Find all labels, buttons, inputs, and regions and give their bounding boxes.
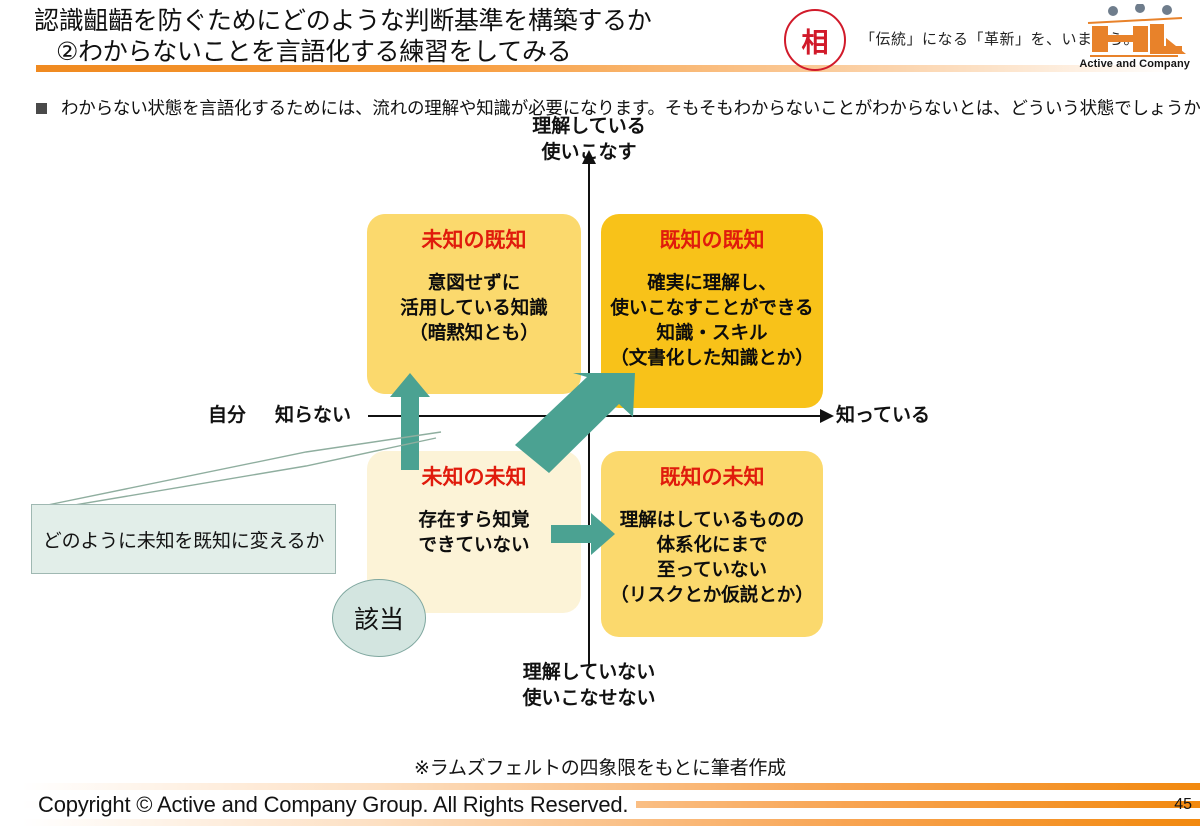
brand-logo-area: 相 「伝統」になる「革新」を、いまから。 Active and Company xyxy=(764,2,1194,78)
footer-bar-top xyxy=(22,783,1200,790)
slide-footer: Copyright © Active and Company Group. Al… xyxy=(0,779,1200,831)
slide-canvas: 認識齟齬を防ぐためにどのような判断基準を構築するか ②わからないことを言語化する… xyxy=(0,0,1200,831)
footer-page-number: 45 xyxy=(1174,796,1192,814)
quadrant-body-line: 体系化にまで xyxy=(601,532,823,557)
active-and-company-logo-icon xyxy=(1078,4,1188,60)
bullet-square-icon xyxy=(36,103,47,114)
page-title: 認識齟齬を防ぐためにどのような判断基準を構築するか ②わからないことを言語化する… xyxy=(34,6,734,68)
callout-box[interactable]: どのように未知を既知に変えるか xyxy=(31,504,336,574)
axis-label-bottom-line-2: 使いこなせない xyxy=(489,686,689,712)
quadrant-body-line: 理解はしているものの xyxy=(601,507,823,532)
arrow-diagonal-up-right-icon xyxy=(515,373,635,473)
callout-text: どのように未知を既知に変えるか xyxy=(43,526,324,553)
axis-arrow-right-icon xyxy=(820,409,834,423)
arrow-right-icon xyxy=(551,513,615,555)
quadrant-body-line: （暗黙知とも） xyxy=(367,320,581,345)
quadrant-body-line: 意図せずに xyxy=(367,270,581,295)
quadrant-known-unknown[interactable]: 既知の未知 理解はしているものの 体系化にまで 至っていない （リスクとか仮説と… xyxy=(601,451,823,637)
axis-label-bottom: 理解していない 使いこなせない xyxy=(489,660,689,712)
quadrant-body-line: （文書化した知識とか） xyxy=(601,345,823,370)
axis-label-top: 理解している 使いこなす xyxy=(489,114,689,166)
footer-bar-bottom xyxy=(22,819,1200,826)
quadrant-diagram: 理解している 使いこなす 理解していない 使いこなせない 自分 知らない 知って… xyxy=(0,128,1200,728)
axis-label-top-line-2: 使いこなす xyxy=(489,140,689,166)
quadrant-body: 意図せずに 活用している知識 （暗黙知とも） xyxy=(367,270,581,345)
page-title-line-2: ②わからないことを言語化する練習をしてみる xyxy=(34,37,734,68)
current-state-marker-label: 該当 xyxy=(354,600,404,636)
axis-label-right: 知っている xyxy=(836,403,930,429)
quadrant-body: 確実に理解し、 使いこなすことができる 知識・スキル （文書化した知識とか） xyxy=(601,270,823,370)
source-caption: ※ラムズフェルトの四象限をもとに筆者作成 xyxy=(0,753,1200,780)
quadrant-title: 既知の既知 xyxy=(601,228,823,254)
quadrant-body-line: 至っていない xyxy=(601,557,823,582)
axis-label-bottom-line-1: 理解していない xyxy=(489,660,689,686)
quadrant-title: 未知の既知 xyxy=(367,228,581,254)
current-state-marker[interactable]: 該当 xyxy=(332,579,426,657)
brand-seal-icon: 相 xyxy=(784,9,846,71)
quadrant-body-line: （リスクとか仮説とか） xyxy=(601,582,823,607)
quadrant-body-line: 使いこなすことができる xyxy=(601,295,823,320)
quadrant-body-line: 確実に理解し、 xyxy=(601,270,823,295)
page-title-line-1: 認識齟齬を防ぐためにどのような判断基準を構築するか xyxy=(34,6,734,37)
quadrant-unknown-known[interactable]: 未知の既知 意図せずに 活用している知識 （暗黙知とも） xyxy=(367,214,581,394)
footer-copyright: Copyright © Active and Company Group. Al… xyxy=(38,792,636,818)
logo-wordmark: Active and Company xyxy=(1079,58,1190,70)
quadrant-body-line: 知識・スキル xyxy=(601,320,823,345)
quadrant-body-line: 活用している知識 xyxy=(367,295,581,320)
quadrant-body: 理解はしているものの 体系化にまで 至っていない （リスクとか仮説とか） xyxy=(601,507,823,607)
axis-label-top-line-1: 理解している xyxy=(489,114,689,140)
